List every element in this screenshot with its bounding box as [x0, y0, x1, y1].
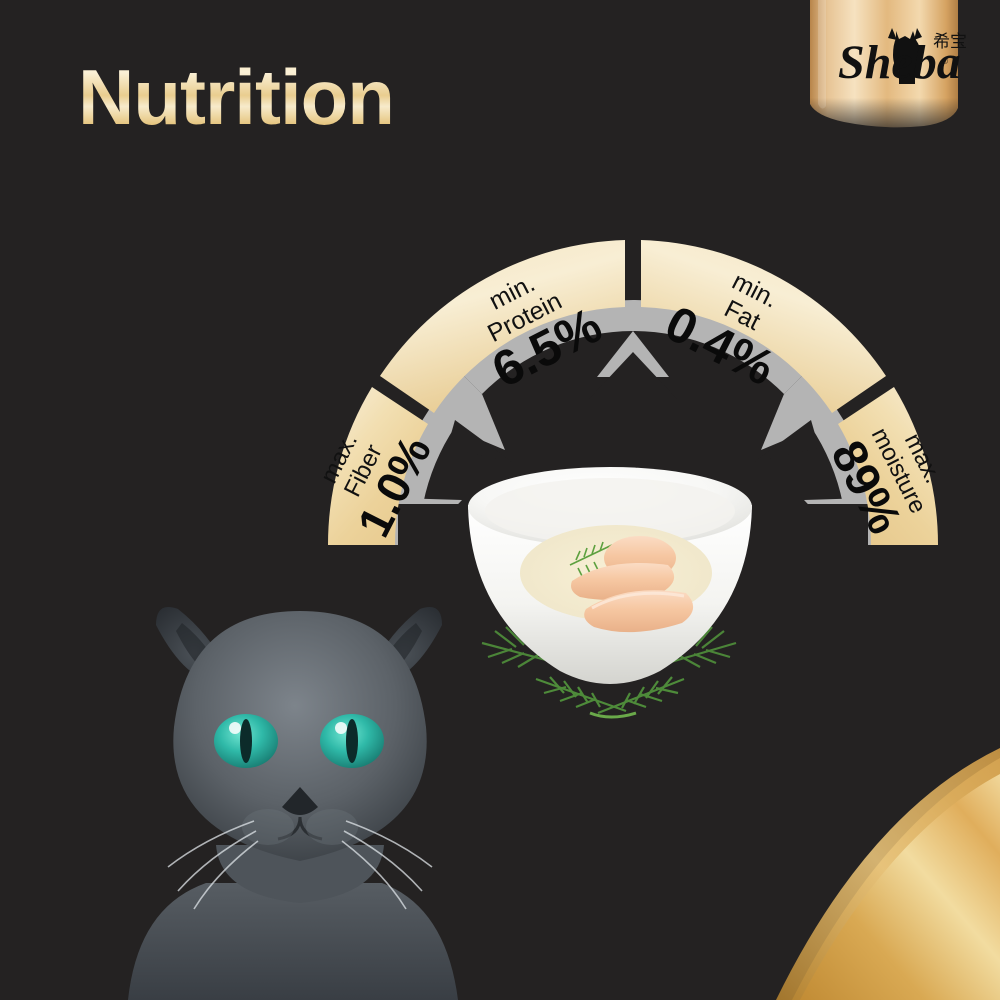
sheba-logo-banner: 希宝 Sheba ® [800, 0, 1000, 140]
segment-moisture-nutrient: moisture [866, 424, 932, 518]
segment-fiber [328, 387, 428, 545]
segment-moisture [838, 387, 938, 545]
segment-fat-qualifier: min. [728, 267, 783, 313]
segment-fiber-label-group: max. Fiber 1.0% [303, 406, 441, 545]
segment-protein-label-group: min. Protein 6.5% [460, 251, 610, 398]
segment-protein-qualifier: min. [485, 269, 540, 315]
nutrition-infographic: Nutrition [0, 0, 1000, 1000]
cat-eye-left [214, 714, 278, 768]
segment-fat-nutrient: Fat [720, 295, 765, 336]
segment-fat [641, 240, 886, 413]
rosemary-stem-center [590, 713, 636, 717]
segment-fat-label-group: min. Fat 0.4% [657, 249, 807, 396]
gray-cat-portrait [120, 595, 480, 1000]
bowl-of-cat-food [440, 465, 780, 725]
page-title: Nutrition [78, 58, 394, 136]
segment-protein [380, 240, 625, 413]
segment-fiber-nutrient: Fiber [339, 440, 388, 501]
segment-moisture-label-group: max. moisture 89% [820, 409, 956, 542]
registered-mark: ® [942, 57, 948, 66]
gold-swoosh-decoration [680, 740, 1000, 1000]
segment-protein-value: 6.5% [483, 297, 610, 399]
segment-protein-nutrient: Protein [483, 287, 566, 348]
segment-moisture-qualifier: max. [899, 429, 947, 488]
cat-eye-right [320, 714, 384, 768]
segment-fat-value: 0.4% [657, 295, 784, 397]
segment-fiber-qualifier: max. [315, 429, 363, 488]
segment-moisture-value: 89% [820, 433, 911, 543]
segment-fiber-value: 1.0% [347, 428, 441, 545]
